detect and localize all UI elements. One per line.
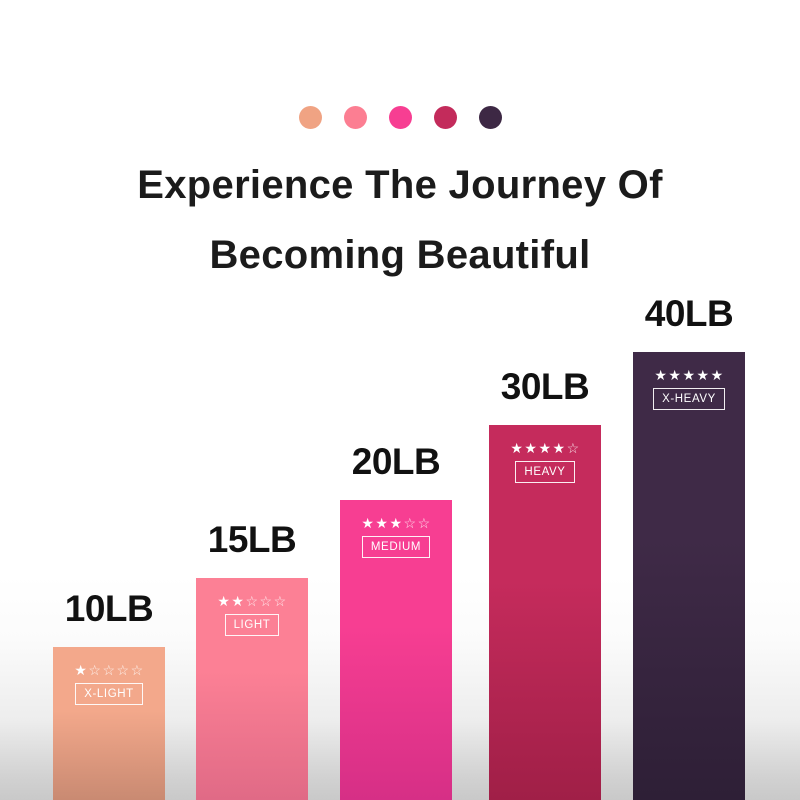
bar-20lb-weight-label: 20LB <box>352 441 440 483</box>
bar-15lb-info: ★★☆☆☆LIGHT <box>196 594 308 636</box>
star-empty-icon: ☆ <box>260 594 273 609</box>
resistance-band-bar-chart: 10LB★☆☆☆☆X-LIGHT15LB★★☆☆☆LIGHT20LB★★★☆☆M… <box>0 0 800 800</box>
bar-20lb[interactable]: 20LB★★★☆☆MEDIUM <box>340 500 452 800</box>
bar-30lb-rating-stars: ★★★★☆ <box>510 441 579 456</box>
star-empty-icon: ☆ <box>131 663 144 678</box>
bar-40lb-body <box>633 352 745 800</box>
star-filled-icon: ★ <box>697 368 710 383</box>
bar-20lb-rating-stars: ★★★☆☆ <box>361 516 430 531</box>
star-empty-icon: ☆ <box>418 516 431 531</box>
bar-40lb-weight-label: 40LB <box>645 293 733 335</box>
bar-15lb-rating-stars: ★★☆☆☆ <box>217 594 286 609</box>
poster-canvas: Experience The Journey Of Becoming Beaut… <box>0 0 800 800</box>
bar-10lb[interactable]: 10LB★☆☆☆☆X-LIGHT <box>53 647 165 800</box>
star-filled-icon: ★ <box>668 368 681 383</box>
bar-30lb[interactable]: 30LB★★★★☆HEAVY <box>489 425 601 800</box>
star-filled-icon: ★ <box>553 441 566 456</box>
star-filled-icon: ★ <box>217 594 230 609</box>
star-empty-icon: ☆ <box>274 594 287 609</box>
bar-40lb-rating-stars: ★★★★★ <box>654 368 723 383</box>
bar-30lb-info: ★★★★☆HEAVY <box>489 441 601 483</box>
bar-15lb-tier-badge: LIGHT <box>225 614 280 636</box>
star-filled-icon: ★ <box>538 441 551 456</box>
bar-15lb-weight-label: 15LB <box>208 519 296 561</box>
bar-20lb-tier-badge: MEDIUM <box>362 536 430 558</box>
bar-15lb[interactable]: 15LB★★☆☆☆LIGHT <box>196 578 308 800</box>
star-empty-icon: ☆ <box>567 441 580 456</box>
star-empty-icon: ☆ <box>117 663 130 678</box>
star-filled-icon: ★ <box>389 516 402 531</box>
star-filled-icon: ★ <box>524 441 537 456</box>
bar-10lb-tier-badge: X-LIGHT <box>75 683 143 705</box>
star-filled-icon: ★ <box>654 368 667 383</box>
bar-30lb-tier-badge: HEAVY <box>515 461 574 483</box>
bar-20lb-info: ★★★☆☆MEDIUM <box>340 516 452 558</box>
star-filled-icon: ★ <box>375 516 388 531</box>
star-filled-icon: ★ <box>361 516 374 531</box>
bar-40lb-info: ★★★★★X-HEAVY <box>633 368 745 410</box>
bar-40lb[interactable]: 40LB★★★★★X-HEAVY <box>633 352 745 800</box>
star-empty-icon: ☆ <box>404 516 417 531</box>
bar-10lb-rating-stars: ★☆☆☆☆ <box>74 663 143 678</box>
bar-40lb-tier-badge: X-HEAVY <box>653 388 725 410</box>
star-empty-icon: ☆ <box>245 594 258 609</box>
bar-10lb-weight-label: 10LB <box>65 588 153 630</box>
star-filled-icon: ★ <box>711 368 724 383</box>
star-filled-icon: ★ <box>74 663 87 678</box>
bar-10lb-info: ★☆☆☆☆X-LIGHT <box>53 663 165 705</box>
star-filled-icon: ★ <box>682 368 695 383</box>
star-filled-icon: ★ <box>510 441 523 456</box>
star-empty-icon: ☆ <box>88 663 101 678</box>
star-empty-icon: ☆ <box>102 663 115 678</box>
bar-30lb-weight-label: 30LB <box>501 366 589 408</box>
star-filled-icon: ★ <box>231 594 244 609</box>
